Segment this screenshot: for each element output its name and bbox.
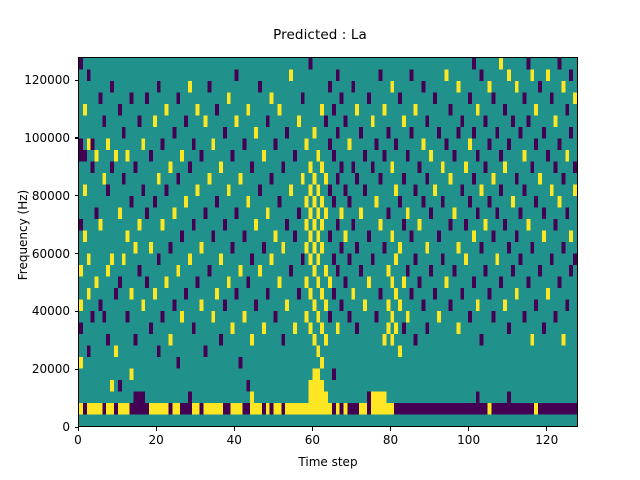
- heatmap-cell: [340, 93, 344, 105]
- heatmap-cell: [488, 403, 492, 415]
- heatmap-cell: [394, 403, 398, 415]
- heatmap-cell: [565, 104, 569, 116]
- heatmap-cell: [309, 254, 313, 266]
- heatmap-cell: [79, 139, 83, 151]
- heatmap-cell: [456, 127, 460, 139]
- heatmap-cell: [410, 127, 414, 139]
- heatmap-cell: [235, 70, 239, 82]
- heatmap-cell: [484, 116, 488, 128]
- heatmap-cell: [91, 139, 95, 151]
- heatmap-cell: [79, 300, 83, 312]
- y-tick-label: 20000: [32, 362, 70, 376]
- heatmap-cell: [168, 334, 172, 346]
- heatmap-cell: [316, 208, 320, 220]
- heatmap-cell: [550, 93, 554, 105]
- y-tick-label: 120000: [24, 73, 70, 87]
- heatmap-cell: [398, 403, 402, 415]
- heatmap-cell: [410, 403, 414, 415]
- heatmap-cell: [359, 265, 363, 277]
- heatmap-cell: [204, 116, 208, 128]
- heatmap-cell: [546, 150, 550, 162]
- heatmap-cell: [519, 208, 523, 220]
- heatmap-cell: [87, 254, 91, 266]
- heatmap-cell: [316, 346, 320, 358]
- heatmap-cell: [441, 196, 445, 208]
- heatmap-cell: [297, 116, 301, 128]
- heatmap-cell: [526, 403, 530, 415]
- heatmap-cell: [133, 242, 137, 254]
- heatmap-cell: [320, 288, 324, 300]
- heatmap-cell: [188, 254, 192, 266]
- heatmap-cell: [254, 219, 258, 231]
- heatmap-cell: [561, 173, 565, 185]
- heatmap-cell: [254, 127, 258, 139]
- heatmap-cell: [379, 70, 383, 82]
- x-tick-label: 80: [383, 433, 398, 447]
- heatmap-cell: [106, 139, 110, 151]
- heatmap-cell: [312, 265, 316, 277]
- heatmap-cell: [79, 403, 83, 415]
- heatmap-cell: [386, 127, 390, 139]
- heatmap-cell: [402, 323, 406, 335]
- heatmap-cell: [355, 242, 359, 254]
- heatmap-cell: [530, 70, 534, 82]
- heatmap-cell: [340, 300, 344, 312]
- heatmap-cell: [394, 288, 398, 300]
- heatmap-cell: [476, 208, 480, 220]
- heatmap-cell: [558, 403, 562, 415]
- heatmap-cell: [507, 392, 511, 404]
- heatmap-cell: [165, 277, 169, 289]
- heatmap-cell: [386, 265, 390, 277]
- heatmap-cell: [437, 127, 441, 139]
- x-tick-label: 0: [74, 433, 82, 447]
- heatmap-cell: [375, 403, 379, 415]
- heatmap-cell: [231, 242, 235, 254]
- heatmap-cell: [503, 403, 507, 415]
- heatmap-cell: [336, 403, 340, 415]
- heatmap-cell: [367, 403, 371, 415]
- heatmap-cell: [480, 403, 484, 415]
- heatmap-cell: [499, 277, 503, 289]
- heatmap-cell: [215, 104, 219, 116]
- heatmap-cell: [402, 219, 406, 231]
- heatmap-cell: [270, 173, 274, 185]
- heatmap-cell: [207, 265, 211, 277]
- heatmap-cell: [316, 311, 320, 323]
- heatmap-cell: [235, 116, 239, 128]
- heatmap-cell: [106, 185, 110, 197]
- heatmap-cell: [386, 300, 390, 312]
- heatmap-cell: [414, 403, 418, 415]
- x-tick-mark: [390, 427, 391, 431]
- heatmap-cell: [453, 150, 457, 162]
- heatmap-cell: [499, 58, 503, 70]
- heatmap-cell: [223, 300, 227, 312]
- heatmap-cell: [526, 116, 530, 128]
- heatmap-cell: [371, 116, 375, 128]
- heatmap-cell: [480, 185, 484, 197]
- heatmap-cell: [157, 81, 161, 93]
- heatmap-cell: [141, 139, 145, 151]
- x-tick-label: 120: [535, 433, 558, 447]
- heatmap-cell: [137, 219, 141, 231]
- heatmap-cell: [398, 93, 402, 105]
- heatmap-cell: [242, 403, 246, 415]
- heatmap-cell: [106, 334, 110, 346]
- heatmap-cell: [449, 219, 453, 231]
- heatmap-cell: [231, 150, 235, 162]
- heatmap-cell: [285, 300, 289, 312]
- heatmap-cell: [118, 403, 122, 415]
- x-tick-label: 100: [457, 433, 480, 447]
- heatmap-cell: [133, 162, 137, 174]
- heatmap-cell: [460, 116, 464, 128]
- heatmap-cell: [363, 185, 367, 197]
- heatmap-cell: [235, 403, 239, 415]
- heatmap-cell: [410, 288, 414, 300]
- heatmap-cell: [515, 81, 519, 93]
- heatmap-cell: [484, 162, 488, 174]
- heatmap-cell: [320, 403, 324, 415]
- heatmap-cell: [312, 242, 316, 254]
- heatmap-cell: [336, 70, 340, 82]
- heatmap-cell: [114, 346, 118, 358]
- heatmap-cell: [425, 403, 429, 415]
- page-title: Predicted : La: [0, 27, 640, 43]
- heatmap-cell: [414, 334, 418, 346]
- heatmap-cell: [554, 219, 558, 231]
- heatmap-cell: [149, 323, 153, 335]
- x-tick-label: 60: [305, 433, 320, 447]
- heatmap-cell: [262, 403, 266, 415]
- heatmap-cell: [336, 323, 340, 335]
- heatmap-cell: [172, 403, 176, 415]
- heatmap-cell: [312, 196, 316, 208]
- heatmap-cell: [515, 173, 519, 185]
- heatmap-cell: [507, 242, 511, 254]
- heatmap-cell: [316, 369, 320, 381]
- heatmap-cell: [293, 403, 297, 415]
- y-tick-label: 80000: [32, 189, 70, 203]
- heatmap-cell: [239, 173, 243, 185]
- x-tick-mark: [468, 427, 469, 431]
- heatmap-cell: [223, 403, 227, 415]
- heatmap-cell: [484, 265, 488, 277]
- heatmap-cell: [332, 150, 336, 162]
- heatmap-cell: [98, 93, 102, 105]
- heatmap-cell: [519, 127, 523, 139]
- heatmap-cell: [215, 196, 219, 208]
- heatmap-cell: [262, 323, 266, 335]
- heatmap-cell: [499, 403, 503, 415]
- heatmap-cell: [519, 254, 523, 266]
- heatmap-cell: [410, 70, 414, 82]
- heatmap-cell: [344, 116, 348, 128]
- heatmap-cell: [133, 392, 137, 404]
- heatmap-cell: [91, 403, 95, 415]
- heatmap-cell: [320, 323, 324, 335]
- heatmap-cell: [336, 173, 340, 185]
- heatmap-cell: [499, 185, 503, 197]
- heatmap-cell: [305, 277, 309, 289]
- heatmap-cell: [316, 254, 320, 266]
- heatmap-cell: [110, 380, 114, 392]
- heatmap-cell: [328, 403, 332, 415]
- heatmap-cell: [484, 403, 488, 415]
- heatmap-cell: [285, 219, 289, 231]
- heatmap-cell: [569, 231, 573, 243]
- heatmap-cell: [476, 104, 480, 116]
- heatmap-cell: [274, 311, 278, 323]
- heatmap-cell: [110, 162, 114, 174]
- heatmap-cell: [122, 173, 126, 185]
- heatmap-cell: [91, 162, 95, 174]
- heatmap-cell: [246, 104, 250, 116]
- heatmap-cell: [453, 208, 457, 220]
- heatmap-cell: [79, 265, 83, 277]
- heatmap-cell: [207, 81, 211, 93]
- matplotlib-figure: Predicted : La Frequency (Hz) 0200004000…: [0, 0, 640, 480]
- heatmap-cell: [149, 150, 153, 162]
- heatmap-cell: [355, 403, 359, 415]
- heatmap-cells: [79, 58, 577, 426]
- heatmap-cell: [324, 173, 328, 185]
- heatmap-cell: [538, 265, 542, 277]
- heatmap-cell: [168, 162, 172, 174]
- heatmap-cell: [258, 403, 262, 415]
- heatmap-cell: [569, 403, 573, 415]
- heatmap-cell: [468, 93, 472, 105]
- heatmap-cell: [573, 254, 577, 266]
- heatmap-cell: [87, 139, 91, 151]
- heatmap-cell: [511, 116, 515, 128]
- heatmap-cell: [316, 231, 320, 243]
- heatmap-cell: [180, 311, 184, 323]
- y-axis-tick-labels: 020000400006000080000100000120000: [0, 0, 70, 480]
- heatmap-cell: [122, 254, 126, 266]
- heatmap-cell: [324, 208, 328, 220]
- heatmap-cell: [258, 185, 262, 197]
- heatmap-cell: [488, 288, 492, 300]
- heatmap-cell: [316, 277, 320, 289]
- heatmap-cell: [390, 277, 394, 289]
- heatmap-cell: [196, 403, 200, 415]
- heatmap-cell: [324, 300, 328, 312]
- heatmap-cell: [340, 403, 344, 415]
- heatmap-cell: [406, 208, 410, 220]
- heatmap-cell: [554, 162, 558, 174]
- heatmap-cell: [503, 104, 507, 116]
- heatmap-cell: [200, 242, 204, 254]
- heatmap-cell: [468, 311, 472, 323]
- heatmap-cell: [102, 116, 106, 128]
- heatmap-cell: [523, 93, 527, 105]
- heatmap-cell: [367, 392, 371, 404]
- heatmap-cell: [332, 403, 336, 415]
- heatmap-cell: [320, 104, 324, 116]
- heatmap-cell: [157, 173, 161, 185]
- heatmap-cell: [83, 185, 87, 197]
- heatmap-cell: [375, 311, 379, 323]
- heatmap-cell: [456, 242, 460, 254]
- heatmap-cell: [488, 139, 492, 151]
- heatmap-cell: [332, 196, 336, 208]
- heatmap-cell: [394, 323, 398, 335]
- heatmap-cell: [172, 300, 176, 312]
- heatmap-cell: [79, 357, 83, 369]
- heatmap-cell: [277, 196, 281, 208]
- heatmap-cell: [145, 93, 149, 105]
- heatmap-cell: [351, 288, 355, 300]
- heatmap-cell: [460, 185, 464, 197]
- heatmap-cell: [344, 231, 348, 243]
- heatmap-cell: [79, 219, 83, 231]
- heatmap-cell: [176, 173, 180, 185]
- heatmap-cell: [262, 242, 266, 254]
- heatmap-cell: [433, 93, 437, 105]
- heatmap-cell: [83, 403, 87, 415]
- heatmap-cell: [137, 403, 141, 415]
- heatmap-cell: [242, 311, 246, 323]
- heatmap-cell: [449, 403, 453, 415]
- heatmap-axes[interactable]: [78, 57, 578, 427]
- heatmap-cell: [359, 127, 363, 139]
- heatmap-cell: [495, 208, 499, 220]
- heatmap-cell: [293, 150, 297, 162]
- heatmap-cell: [305, 196, 309, 208]
- heatmap-cell: [231, 323, 235, 335]
- heatmap-cell: [312, 380, 316, 392]
- heatmap-cell: [207, 173, 211, 185]
- heatmap-cell: [429, 265, 433, 277]
- heatmap-cell: [347, 311, 351, 323]
- heatmap-cell: [421, 196, 425, 208]
- heatmap-cell: [227, 403, 231, 415]
- heatmap-cell: [106, 403, 110, 415]
- heatmap-cell: [324, 403, 328, 415]
- heatmap-cell: [281, 162, 285, 174]
- heatmap-cell: [472, 403, 476, 415]
- heatmap-cell: [235, 288, 239, 300]
- heatmap-cell: [542, 231, 546, 243]
- heatmap-cell: [285, 127, 289, 139]
- heatmap-cell: [301, 93, 305, 105]
- heatmap-cell: [390, 334, 394, 346]
- heatmap-cell: [363, 403, 367, 415]
- heatmap-cell: [340, 162, 344, 174]
- heatmap-cell: [281, 403, 285, 415]
- heatmap-cell: [488, 81, 492, 93]
- heatmap-cell: [320, 242, 324, 254]
- heatmap-cell: [277, 277, 281, 289]
- heatmap-cell: [161, 139, 165, 151]
- heatmap-cell: [239, 265, 243, 277]
- heatmap-cell: [468, 403, 472, 415]
- heatmap-cell: [569, 265, 573, 277]
- heatmap-cell: [289, 70, 293, 82]
- heatmap-cell: [231, 403, 235, 415]
- heatmap-cell: [472, 58, 476, 70]
- heatmap-cell: [507, 403, 511, 415]
- heatmap-cell: [558, 277, 562, 289]
- heatmap-cell: [204, 346, 208, 358]
- heatmap-cell: [83, 104, 87, 116]
- x-tick-mark: [156, 427, 157, 431]
- heatmap-cell: [526, 219, 530, 231]
- heatmap-cell: [98, 219, 102, 231]
- heatmap-cell: [558, 58, 562, 70]
- heatmap-cell: [83, 231, 87, 243]
- heatmap-cell: [316, 150, 320, 162]
- heatmap-cell: [250, 162, 254, 174]
- heatmap-cell: [371, 403, 375, 415]
- heatmap-cell: [367, 277, 371, 289]
- heatmap-cell: [95, 150, 99, 162]
- heatmap-cell: [534, 196, 538, 208]
- heatmap-cell: [192, 139, 196, 151]
- heatmap-cell: [523, 311, 527, 323]
- heatmap-cell: [277, 403, 281, 415]
- heatmap-cell: [347, 139, 351, 151]
- heatmap-cell: [324, 116, 328, 128]
- heatmap-cell: [538, 173, 542, 185]
- heatmap-cell: [530, 334, 534, 346]
- heatmap-cell: [445, 139, 449, 151]
- heatmap-cell: [215, 403, 219, 415]
- heatmap-cell: [110, 81, 114, 93]
- heatmap-cell: [480, 70, 484, 82]
- heatmap-cell: [507, 139, 511, 151]
- heatmap-cell: [511, 196, 515, 208]
- heatmap-cell: [421, 403, 425, 415]
- heatmap-cell: [305, 139, 309, 151]
- heatmap-cell: [453, 403, 457, 415]
- heatmap-cell: [192, 403, 196, 415]
- heatmap-cell: [250, 254, 254, 266]
- heatmap-cell: [355, 173, 359, 185]
- heatmap-cell: [534, 403, 538, 415]
- heatmap-cell: [309, 392, 313, 404]
- heatmap-cell: [410, 231, 414, 243]
- x-tick-label: 40: [227, 433, 242, 447]
- heatmap-cell: [429, 150, 433, 162]
- heatmap-cell: [196, 104, 200, 116]
- heatmap-cell: [476, 300, 480, 312]
- heatmap-cell: [254, 403, 258, 415]
- heatmap-cell: [137, 265, 141, 277]
- heatmap-cell: [270, 93, 274, 105]
- heatmap-cell: [95, 277, 99, 289]
- heatmap-cell: [550, 185, 554, 197]
- heatmap-cell: [398, 242, 402, 254]
- heatmap-cell: [417, 403, 421, 415]
- heatmap-cell: [456, 323, 460, 335]
- heatmap-cell: [305, 403, 309, 415]
- heatmap-cell: [379, 392, 383, 404]
- heatmap-cell: [188, 81, 192, 93]
- heatmap-cell: [507, 70, 511, 82]
- heatmap-cell: [491, 93, 495, 105]
- heatmap-cell: [561, 403, 565, 415]
- heatmap-cell: [421, 81, 425, 93]
- x-tick-mark: [78, 427, 79, 431]
- y-tick-label: 40000: [32, 304, 70, 318]
- heatmap-cell: [126, 403, 130, 415]
- heatmap-cell: [554, 403, 558, 415]
- heatmap-cell: [363, 150, 367, 162]
- heatmap-cell: [110, 403, 114, 415]
